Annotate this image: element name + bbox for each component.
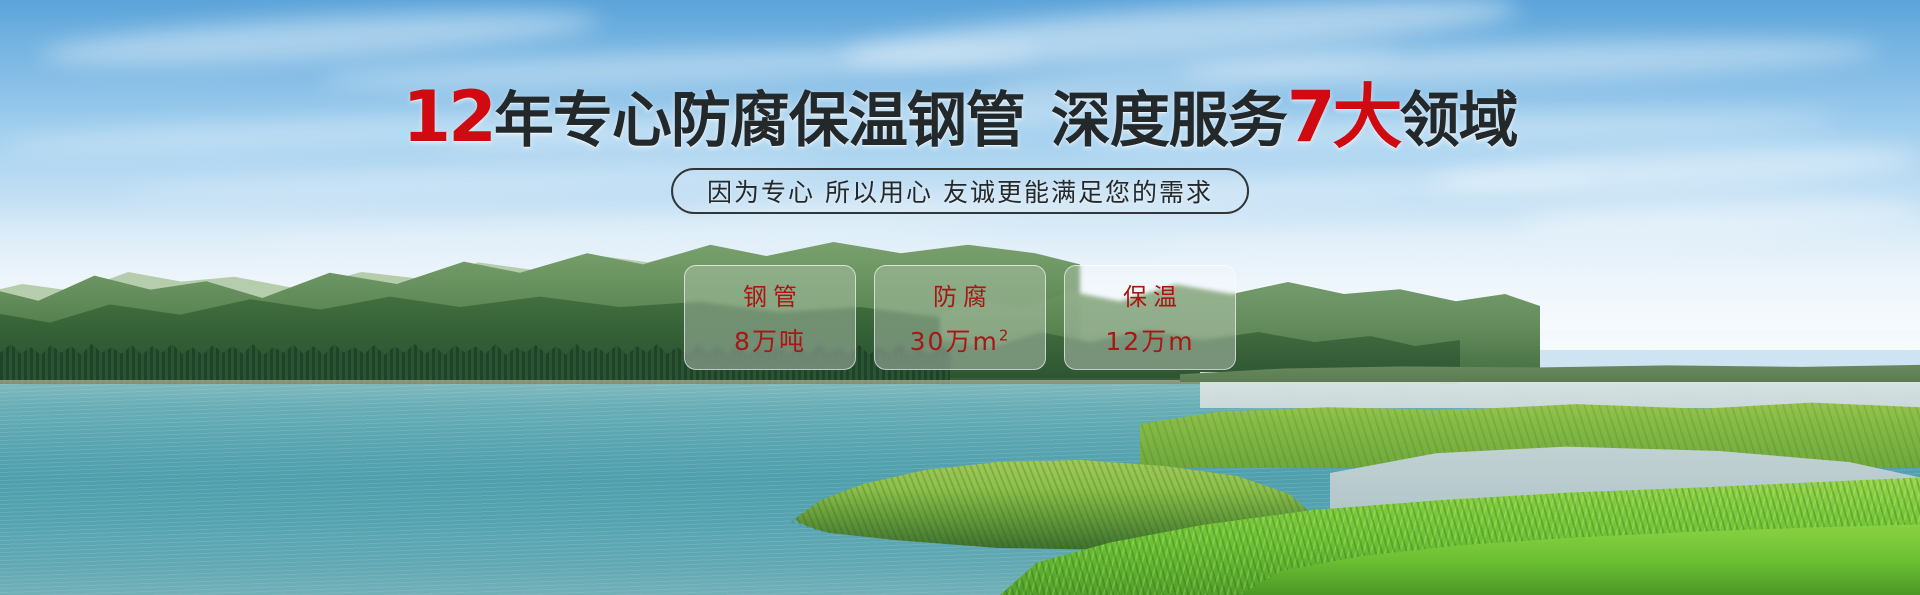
headline-text-tertiary: 领域 (1400, 86, 1518, 156)
headline-years-number: 12 (402, 76, 493, 158)
headline-text-secondary: 深度服务 (1051, 86, 1287, 156)
stat-card-unit-exponent: 2 (999, 327, 1011, 345)
headline-fields-number: 7大 (1287, 76, 1400, 158)
stat-card-value: 12万m (1105, 322, 1194, 358)
stat-card-title: 防腐 (927, 277, 993, 312)
stat-card-group: 钢管 8万吨 防腐 30万m2 保温 12万m (684, 265, 1236, 370)
subtitle-pill: 因为专心 所以用心 友诚更能满足您的需求 (671, 168, 1249, 214)
headline: 12年专心防腐保温钢管深度服务7大领域 (0, 82, 1920, 152)
headline-text-primary: 年专心防腐保温钢管 (494, 86, 1025, 156)
stat-card-title: 钢管 (737, 277, 803, 312)
stat-card-anticorrosion[interactable]: 防腐 30万m2 (874, 265, 1046, 370)
promo-banner: 12年专心防腐保温钢管深度服务7大领域 因为专心 所以用心 友诚更能满足您的需求… (0, 0, 1920, 595)
subtitle-text: 因为专心 所以用心 友诚更能满足您的需求 (707, 173, 1213, 209)
stat-card-value: 8万吨 (734, 322, 806, 358)
stat-card-value: 30万m2 (910, 322, 1011, 358)
stat-card-title: 保温 (1117, 277, 1183, 312)
stat-card-steel-pipe[interactable]: 钢管 8万吨 (684, 265, 856, 370)
stat-card-insulation[interactable]: 保温 12万m (1064, 265, 1236, 370)
banner-content: 12年专心防腐保温钢管深度服务7大领域 因为专心 所以用心 友诚更能满足您的需求… (0, 0, 1920, 595)
